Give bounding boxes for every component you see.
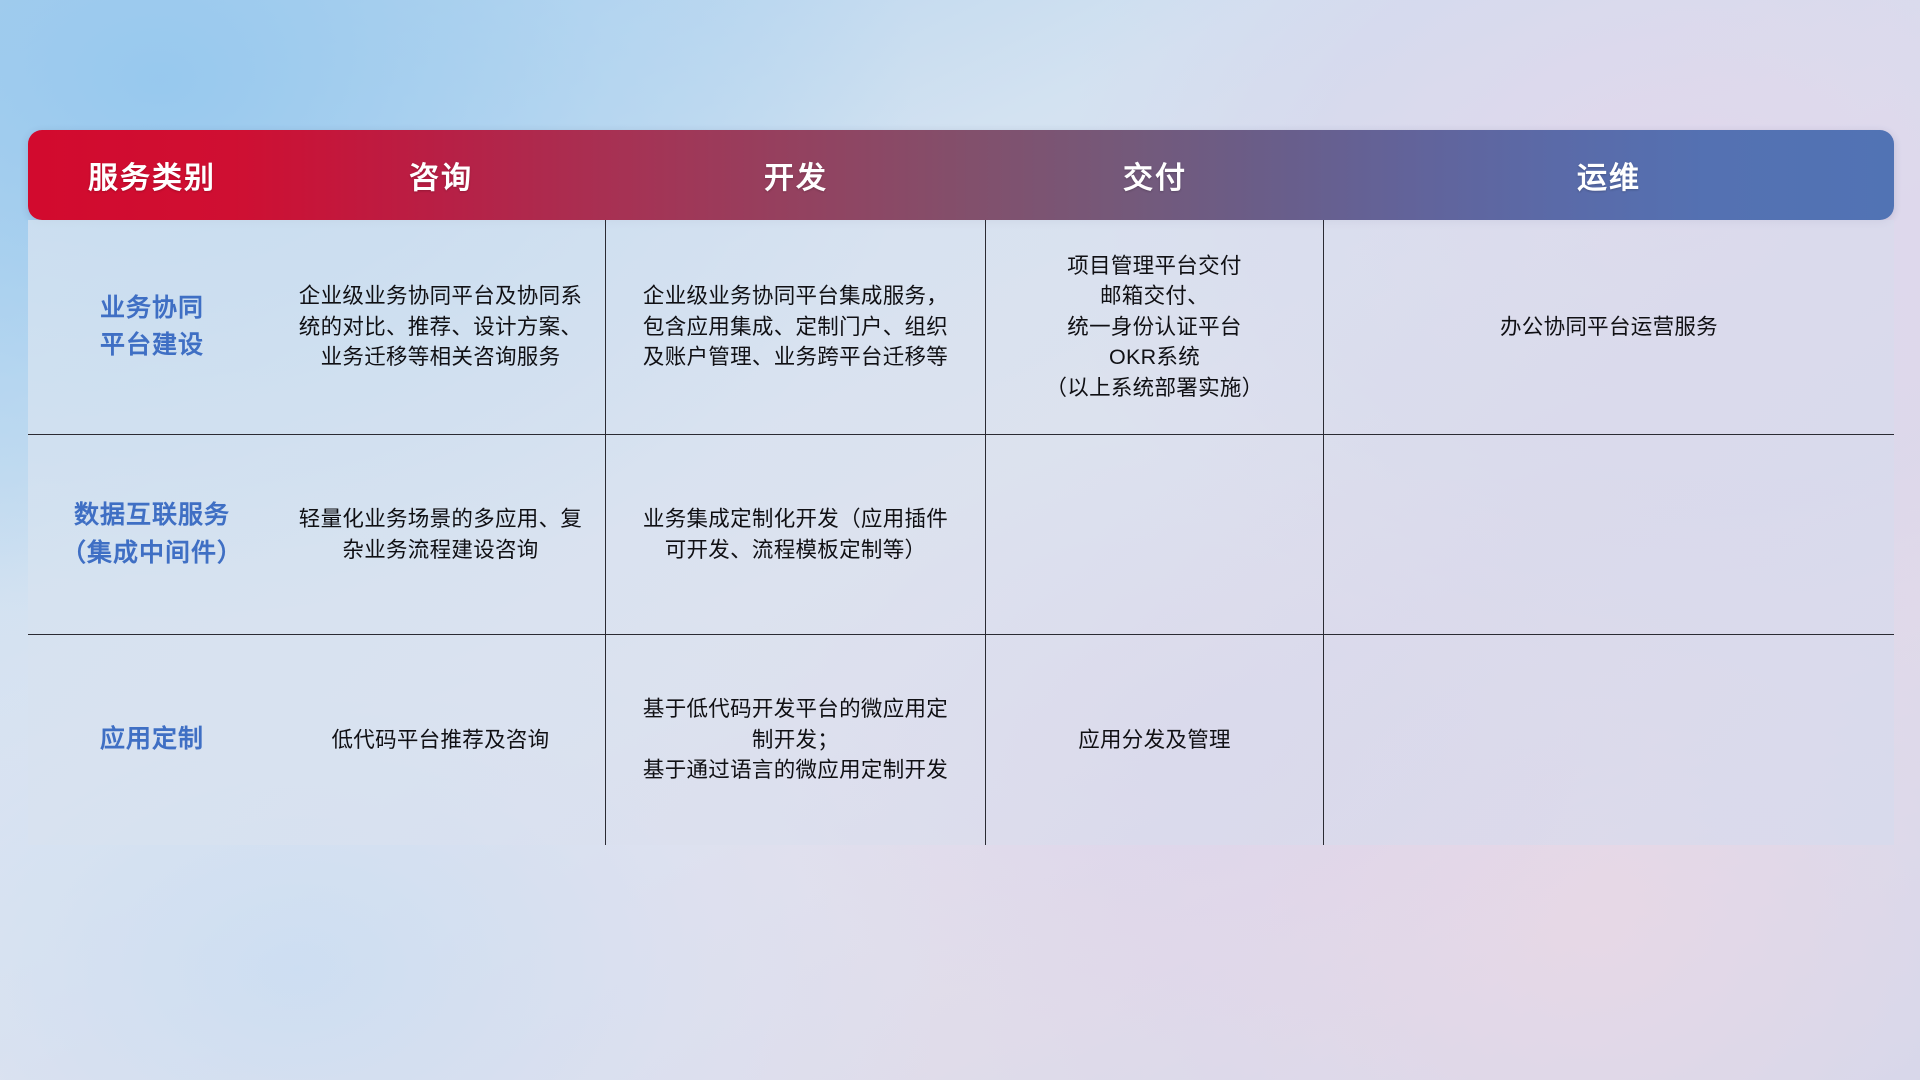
cell-operations-row2 bbox=[1324, 435, 1894, 634]
table-row: 数据互联服务 （集成中间件） 轻量化业务场景的多应用、复 杂业务流程建设咨询 业… bbox=[28, 435, 1894, 635]
cell-delivery-row3: 应用分发及管理 bbox=[986, 635, 1324, 845]
cell-consulting-row3: 低代码平台推荐及咨询 bbox=[276, 635, 606, 845]
table-body: 业务协同 平台建设 企业级业务协同平台及协同系 统的对比、推荐、设计方案、 业务… bbox=[28, 220, 1894, 845]
cell-development-row1: 企业级业务协同平台集成服务， 包含应用集成、定制门户、组织 及账户管理、业务跨平… bbox=[606, 220, 986, 434]
cell-development-row2: 业务集成定制化开发（应用插件 可开发、流程模板定制等） bbox=[606, 435, 986, 634]
cell-development-row3: 基于低代码开发平台的微应用定 制开发； 基于通过语言的微应用定制开发 bbox=[606, 635, 986, 845]
cell-delivery-row1: 项目管理平台交付 邮箱交付、 统一身份认证平台 OKR系统 （以上系统部署实施） bbox=[986, 220, 1324, 434]
table-row: 应用定制 低代码平台推荐及咨询 基于低代码开发平台的微应用定 制开发； 基于通过… bbox=[28, 635, 1894, 845]
column-header-category: 服务类别 bbox=[28, 153, 276, 197]
row-label-application-customization: 应用定制 bbox=[28, 635, 276, 845]
row-label-business-collaboration: 业务协同 平台建设 bbox=[28, 220, 276, 434]
column-header-delivery: 交付 bbox=[986, 153, 1324, 197]
column-header-consulting: 咨询 bbox=[276, 153, 606, 197]
cell-operations-row3 bbox=[1324, 635, 1894, 845]
cell-operations-row1: 办公协同平台运营服务 bbox=[1324, 220, 1894, 434]
column-header-development: 开发 bbox=[606, 153, 986, 197]
column-header-operations: 运维 bbox=[1324, 153, 1894, 197]
cell-delivery-row2 bbox=[986, 435, 1324, 634]
cell-consulting-row1: 企业级业务协同平台及协同系 统的对比、推荐、设计方案、 业务迁移等相关咨询服务 bbox=[276, 220, 606, 434]
table-row: 业务协同 平台建设 企业级业务协同平台及协同系 统的对比、推荐、设计方案、 业务… bbox=[28, 220, 1894, 435]
service-matrix-table: 服务类别 咨询 开发 交付 运维 业务协同 平台建设 企业级业务协同平台及协同系… bbox=[28, 130, 1894, 845]
table-header-row: 服务类别 咨询 开发 交付 运维 bbox=[28, 130, 1894, 220]
row-label-data-interconnection: 数据互联服务 （集成中间件） bbox=[28, 435, 276, 634]
cell-consulting-row2: 轻量化业务场景的多应用、复 杂业务流程建设咨询 bbox=[276, 435, 606, 634]
